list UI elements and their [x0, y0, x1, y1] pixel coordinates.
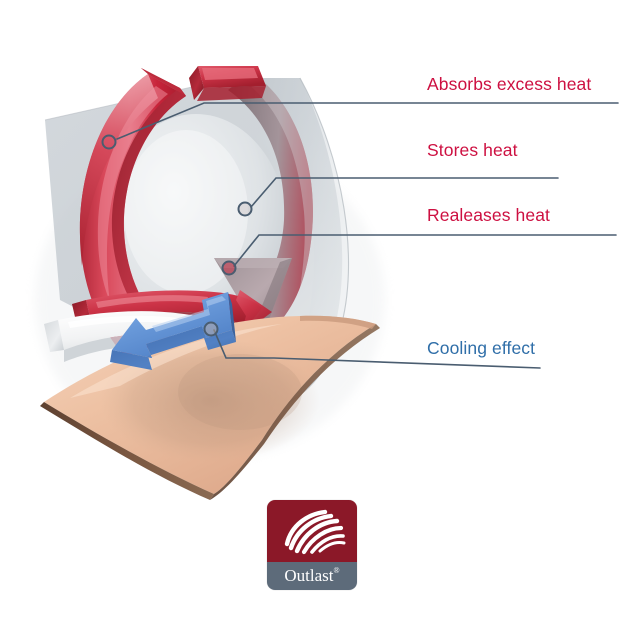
- callout-label-cooling: Cooling effect: [427, 340, 535, 358]
- callout-anchor-releases: [223, 262, 236, 275]
- callout-label-releases: Realeases heat: [427, 207, 550, 225]
- callout-label-stores: Stores heat: [427, 142, 518, 160]
- diagram-page: Absorbs excess heat Stores heat Realease…: [0, 0, 625, 625]
- outlast-wordmark-text: Outlast: [284, 566, 333, 585]
- outlast-logo-band: Outlast®: [267, 562, 357, 590]
- registered-trademark-icon: ®: [334, 566, 340, 575]
- callout-label-absorbs: Absorbs excess heat: [427, 76, 591, 94]
- callout-anchor-cooling: [205, 323, 218, 336]
- outlast-wordmark: Outlast®: [284, 567, 339, 584]
- callout-anchor-stores: [239, 203, 252, 216]
- callout-anchor-absorbs: [103, 136, 116, 149]
- outlast-swoosh-logo-icon: [267, 500, 357, 562]
- outlast-logo: Outlast®: [267, 500, 357, 590]
